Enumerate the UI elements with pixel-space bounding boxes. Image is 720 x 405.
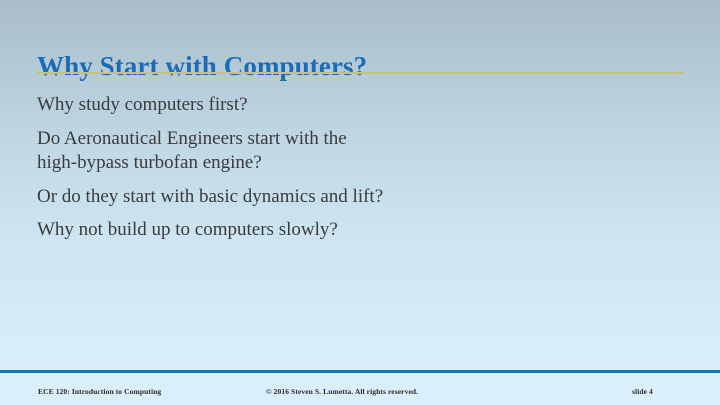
bullet-line: Do Aeronautical Engineers start with the	[37, 127, 657, 152]
slide-title: Why Start with Computers?	[37, 49, 687, 83]
bullet-item: Do Aeronautical Engineers start with the…	[37, 127, 657, 176]
bullet-line: Or do they start with basic dynamics and…	[37, 185, 657, 210]
bullet-line: Why not build up to computers slowly?	[37, 218, 657, 243]
slide-footer: ECE 120: Introduction to Computing © 201…	[0, 373, 720, 405]
footer-slide-number: slide 4	[632, 387, 653, 396]
bullet-line: Why study computers first?	[37, 93, 657, 118]
bullet-item: Or do they start with basic dynamics and…	[37, 185, 657, 210]
presentation-slide: Why Start with Computers? Why study comp…	[0, 0, 720, 405]
bullet-item: Why not build up to computers slowly?	[37, 218, 657, 243]
title-underline-rule	[37, 72, 684, 74]
bullet-item: Why study computers first?	[37, 93, 657, 118]
footer-course-label: ECE 120: Introduction to Computing	[38, 387, 161, 396]
bullet-line: high-bypass turbofan engine?	[37, 151, 657, 176]
footer-copyright-label: © 2016 Steven S. Lumetta. All rights res…	[266, 387, 418, 396]
slide-body-content: Why study computers first? Do Aeronautic…	[37, 93, 657, 243]
